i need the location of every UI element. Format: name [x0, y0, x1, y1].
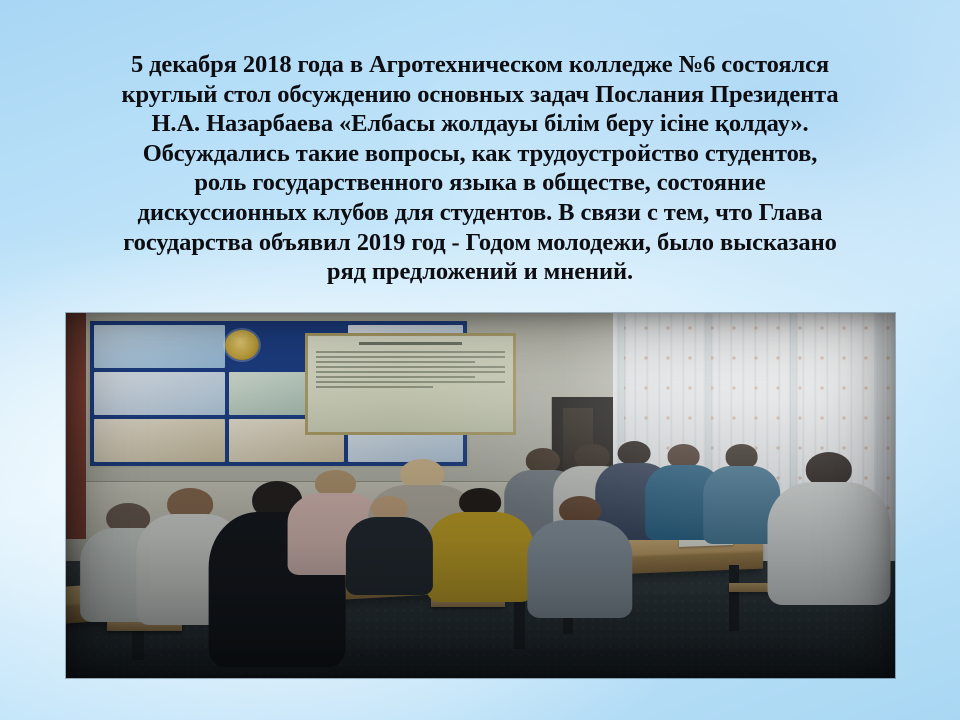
person-torso [428, 512, 533, 602]
poster-text-line [316, 351, 505, 353]
person-head [401, 459, 445, 489]
student-figure [771, 452, 887, 598]
title-line-8: ряд предложений и мнений. [46, 257, 914, 287]
presentation-slide: 5 декабря 2018 года в Агротехническом ко… [0, 0, 960, 720]
title-line-2: круглый стол обсуждению основных задач П… [46, 80, 914, 110]
poster-text-line [316, 381, 505, 383]
poster-text-line [316, 356, 505, 358]
board-emblem-icon [225, 330, 259, 360]
person-torso [767, 482, 890, 605]
photo-scene [66, 313, 895, 678]
title-line-4: Обсуждались такие вопросы, как трудоустр… [46, 139, 914, 169]
board-poster [94, 419, 226, 462]
poster-text-line [316, 386, 433, 388]
poster-text-line [316, 371, 505, 373]
title-line-5: роль государственного языка в обществе, … [46, 168, 914, 198]
student-figure [431, 488, 530, 598]
board-poster [94, 372, 226, 415]
student-figure [348, 496, 431, 591]
title-line-3: Н.А. Назарбаева «Елбасы жолдауы білім бе… [46, 109, 914, 139]
board-poster [94, 325, 226, 368]
table-leg [729, 565, 739, 631]
poster-text-line [316, 361, 475, 363]
poster-text-line [316, 366, 505, 368]
person-torso [527, 520, 632, 618]
wall-text-poster [305, 333, 516, 435]
student-figure [530, 496, 629, 613]
person-torso [346, 517, 432, 595]
title-line-1: 5 декабря 2018 года в Агротехническом ко… [46, 50, 914, 80]
poster-text-line [316, 376, 475, 378]
title-line-7: государства объявил 2019 год - Годом мол… [46, 228, 914, 258]
slide-title-text: 5 декабря 2018 года в Агротехническом ко… [46, 50, 914, 287]
poster-title-bar [359, 342, 461, 345]
classroom-photo [66, 313, 895, 678]
title-line-6: дискуссионных клубов для студентов. В св… [46, 198, 914, 228]
